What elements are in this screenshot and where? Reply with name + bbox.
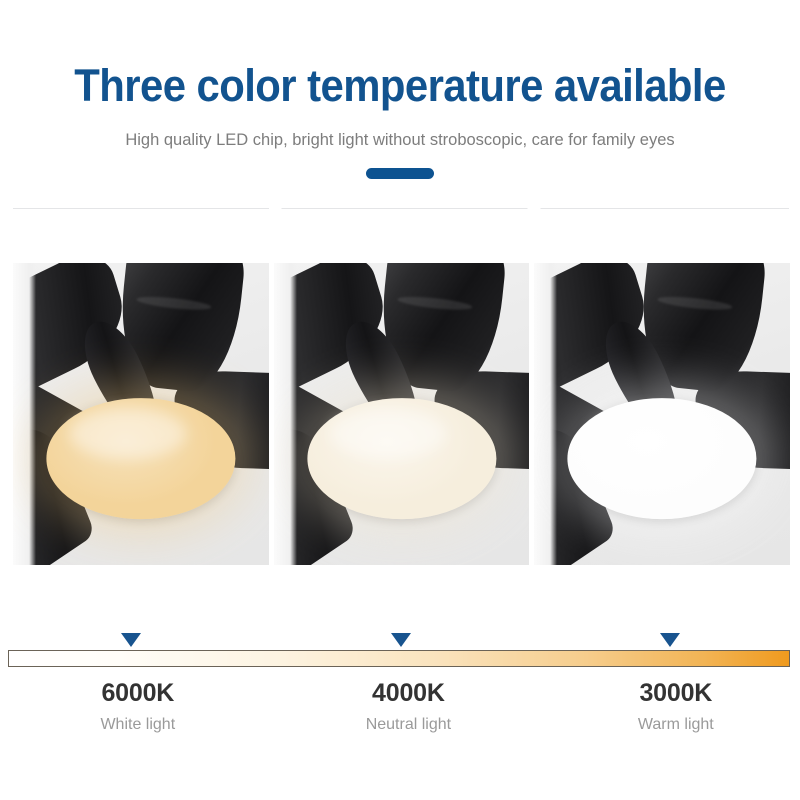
panel-warm-light-fan bbox=[13, 263, 269, 565]
light-lens-warm bbox=[46, 398, 235, 519]
light-lens-white bbox=[568, 398, 757, 519]
color-temperature-scale: 6000K White light 4000K Neutral light 30… bbox=[8, 626, 790, 786]
fan-photo-warm bbox=[13, 263, 269, 565]
page-subtitle: High quality LED chip, bright light with… bbox=[0, 131, 800, 151]
light-lens-neutral bbox=[307, 398, 496, 519]
scale-labels: 6000K White light 4000K Neutral light 30… bbox=[8, 681, 790, 751]
temp-name-6000k: White light bbox=[100, 717, 175, 733]
page-title: Three color temperature available bbox=[28, 62, 772, 109]
label-group-3000k: 3000K Warm light bbox=[638, 681, 714, 733]
scale-markers bbox=[8, 626, 790, 650]
temp-value-3000k: 3000K bbox=[638, 681, 714, 706]
marker-4000k-icon bbox=[391, 633, 411, 647]
temperature-gradient-bar bbox=[8, 650, 790, 667]
header-section: Three color temperature available High q… bbox=[0, 0, 800, 179]
accent-bar-container bbox=[0, 168, 800, 179]
temp-value-6000k: 6000K bbox=[100, 681, 175, 706]
light-disc-warm bbox=[46, 398, 235, 519]
temp-name-3000k: Warm light bbox=[638, 717, 714, 733]
temp-name-4000k: Neutral light bbox=[366, 717, 451, 733]
fan-image-gallery bbox=[13, 263, 790, 565]
panel-neutral-light-fan bbox=[274, 263, 530, 565]
fan-photo-neutral bbox=[274, 263, 530, 565]
temp-value-4000k: 4000K bbox=[366, 681, 451, 706]
fan-photo-white bbox=[534, 263, 790, 565]
marker-3000k-icon bbox=[660, 633, 680, 647]
label-group-4000k: 4000K Neutral light bbox=[366, 681, 451, 733]
temperature-gradient-fill bbox=[9, 651, 789, 666]
label-group-6000k: 6000K White light bbox=[100, 681, 175, 733]
panel-white-light-fan bbox=[534, 263, 790, 565]
marker-6000k-icon bbox=[121, 633, 141, 647]
light-disc-white bbox=[568, 398, 757, 519]
light-disc-neutral bbox=[307, 398, 496, 519]
accent-underline-bar bbox=[366, 168, 434, 179]
section-divider bbox=[13, 208, 789, 209]
